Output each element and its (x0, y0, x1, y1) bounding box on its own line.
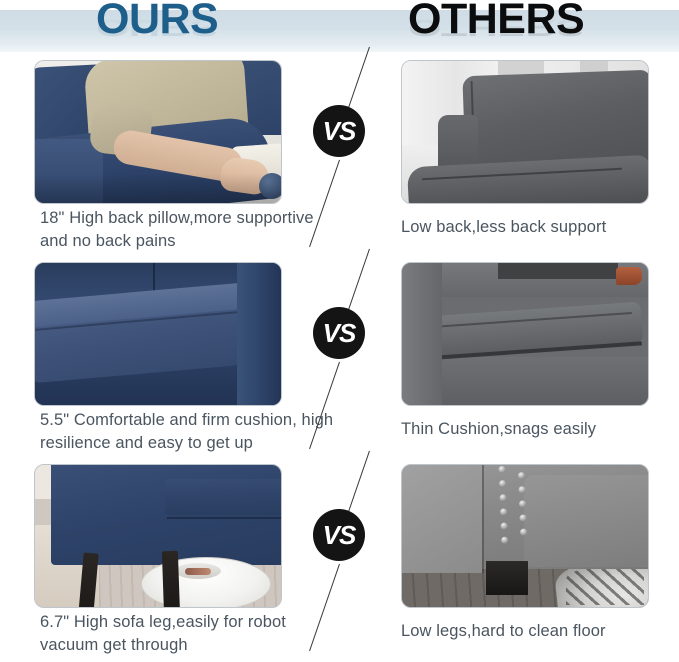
photo-blue-sofa-robot-vacuum (35, 465, 281, 607)
photo-thick-navy-cushion (35, 263, 281, 405)
comparison-row-back-support: VS 18" High back pillow,more supportive … (0, 56, 679, 258)
photo-gray-sofa-low-legs (402, 465, 648, 607)
others-image-cushion (401, 262, 649, 406)
ours-caption-cushion: 5.5" Comfortable and firm cushion, high … (40, 409, 340, 455)
ours-image-cushion (34, 262, 282, 406)
ours-caption-back-support: 18" High back pillow,more supportive and… (40, 207, 340, 253)
ours-caption-legs: 6.7" High sofa leg,easily for robot vacu… (40, 611, 340, 657)
others-caption-cushion: Thin Cushion,snags easily (401, 418, 661, 441)
others-image-back-support (401, 60, 649, 204)
comparison-row-legs: VS 6.7" High sofa leg,easily for robot v… (0, 460, 679, 662)
vs-badge: VS (313, 105, 365, 157)
ours-title: OURS (96, 0, 218, 42)
comparison-row-cushion: VS 5.5" Comfortable and firm cushion, hi… (0, 258, 679, 460)
others-image-legs (401, 464, 649, 608)
photo-thin-gray-cushion (402, 263, 648, 405)
vs-badge: VS (313, 307, 365, 359)
comparison-header: OURS OTHERS OURS OTHERS (0, 0, 679, 54)
others-caption-back-support: Low back,less back support (401, 216, 661, 239)
photo-person-on-navy-sofa (35, 61, 281, 203)
photo-gray-low-back-sofa (402, 61, 648, 203)
ours-image-legs (34, 464, 282, 608)
ours-image-back-support (34, 60, 282, 204)
others-title: OTHERS (408, 0, 584, 42)
others-caption-legs: Low legs,hard to clean floor (401, 620, 661, 643)
vs-badge: VS (313, 509, 365, 561)
